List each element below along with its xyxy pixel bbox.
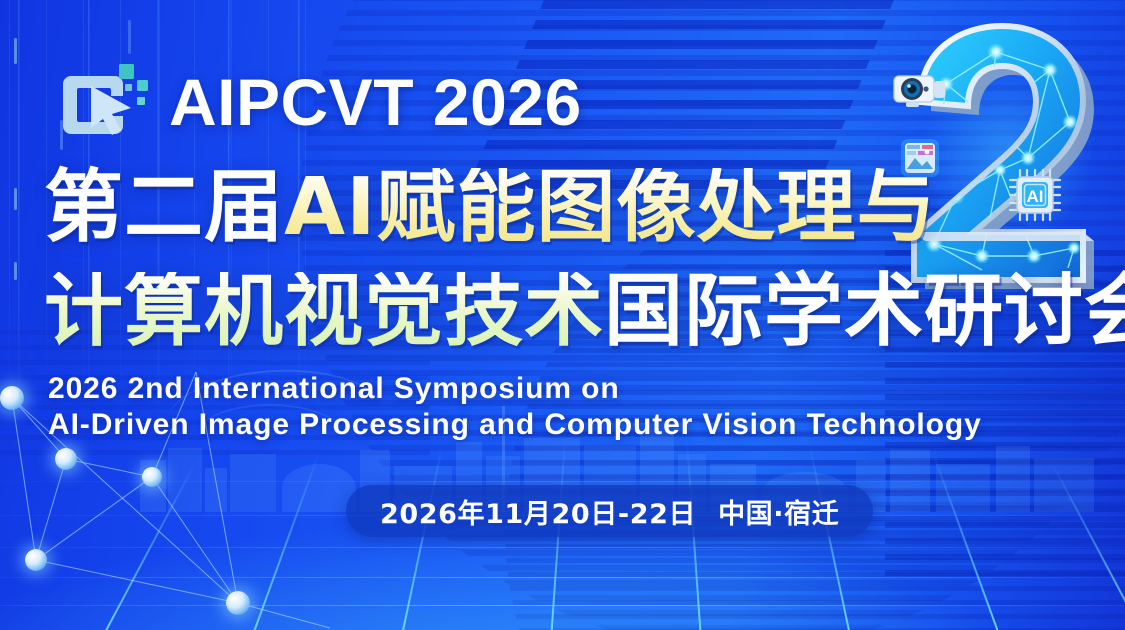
light-dash (14, 262, 17, 280)
network-node (226, 591, 250, 615)
network-node (25, 549, 47, 571)
chip-label: AI (1027, 187, 1044, 206)
network-node (142, 467, 162, 487)
conference-banner: AI AIPCVT 2026 第二届AI赋能图像处理与 计算机视觉技术国际学术研… (0, 0, 1125, 630)
title-cn-seg: 第二届 (44, 168, 284, 247)
network-node (0, 386, 24, 410)
event-date-location-pill: 2026年11月20日-22日 中国·宿迁 (346, 485, 873, 537)
light-dash (14, 38, 17, 64)
banner-header: AIPCVT 2026 (57, 56, 582, 148)
light-dash (128, 20, 131, 54)
network-node (55, 448, 77, 470)
event-date: 2026年11月20日-22日 (380, 492, 696, 531)
brand-title: AIPCVT 2026 (169, 69, 582, 135)
aipcvt-logo-icon (57, 56, 149, 148)
title-en-line-1: 2026 2nd International Symposium on (48, 372, 620, 406)
event-location: 中国·宿迁 (718, 492, 839, 531)
title-cn-line-2: 计算机视觉技术国际学术研讨会 (44, 272, 1125, 351)
title-cn-line-1: 第二届AI赋能图像处理与 (44, 168, 937, 247)
title-en-line-2: AI-Driven Image Processing and Computer … (48, 408, 982, 442)
light-dash (14, 188, 17, 210)
title-cn-seg: 计算机视觉技术 (44, 272, 604, 351)
title-cn-seg: 国际学术研讨会 (604, 272, 1125, 351)
title-cn-seg: AI赋能图像处理与 (284, 168, 937, 247)
